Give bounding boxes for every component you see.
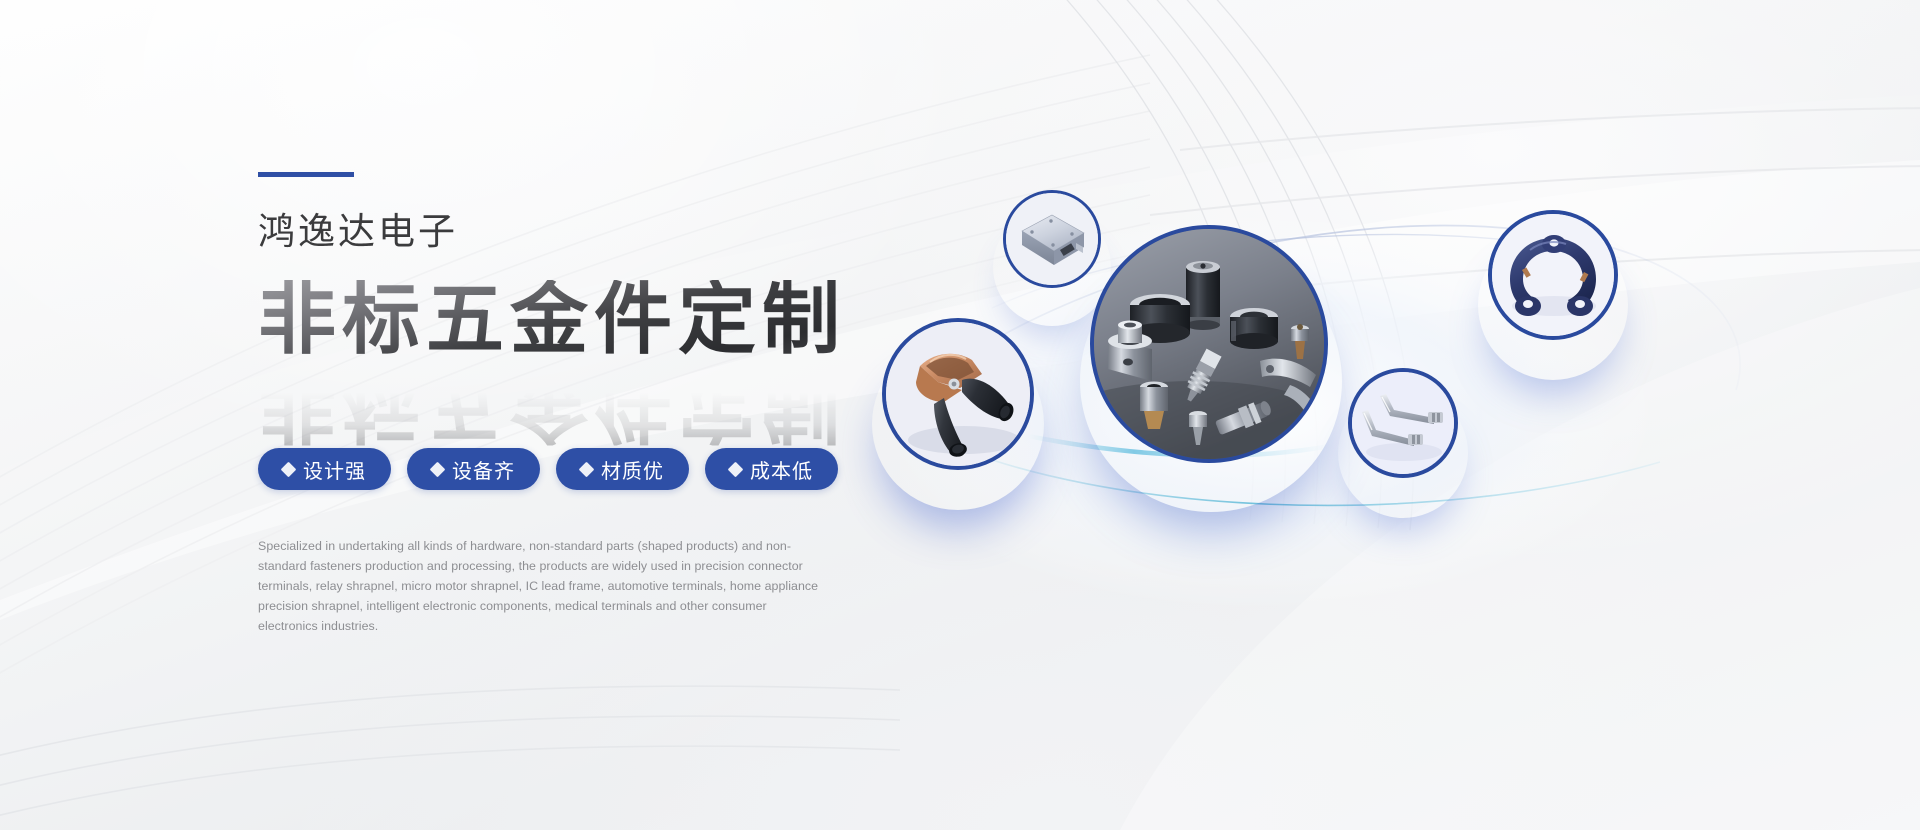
bent-terminal-pins-photo[interactable]	[1348, 368, 1458, 478]
feature-badge-label: 成本低	[750, 455, 813, 484]
diamond-icon	[281, 461, 297, 477]
feature-badge-material[interactable]: 材质优	[556, 448, 689, 490]
feature-badge-label: 设备齐	[452, 455, 515, 484]
accent-bar	[258, 172, 354, 177]
retaining-ring-photo[interactable]	[1488, 210, 1618, 340]
headline-block: 非标五金件定制 非标五金件定制	[258, 280, 898, 430]
company-description: Specialized in undertaking all kinds of …	[258, 536, 828, 636]
diamond-icon	[430, 461, 446, 477]
product-showcase	[900, 140, 1800, 700]
diamond-icon	[579, 461, 595, 477]
feature-badge-cost[interactable]: 成本低	[705, 448, 838, 490]
hero-text-column: 鸿逸达电子 非标五金件定制 非标五金件定制 设计强 设备齐 材质优 成本低	[258, 172, 898, 649]
page-title: 非标五金件定制	[258, 280, 898, 360]
metal-enclosure-photo[interactable]	[1003, 190, 1101, 288]
battery-clamp-photo[interactable]	[882, 318, 1034, 470]
brand-name: 鸿逸达电子	[258, 213, 898, 250]
feature-badge-row: 设计强 设备齐 材质优 成本低	[258, 448, 898, 490]
headline-reflection: 非标五金件定制	[258, 366, 846, 446]
machined-parts-photo[interactable]	[1090, 225, 1328, 463]
feature-badge-label: 设计强	[303, 455, 366, 484]
diamond-icon	[728, 461, 744, 477]
feature-badge-design[interactable]: 设计强	[258, 448, 391, 490]
feature-badge-label: 材质优	[601, 455, 664, 484]
feature-badge-equipment[interactable]: 设备齐	[407, 448, 540, 490]
hero-banner: 鸿逸达电子 非标五金件定制 非标五金件定制 设计强 设备齐 材质优 成本低	[0, 0, 1920, 830]
